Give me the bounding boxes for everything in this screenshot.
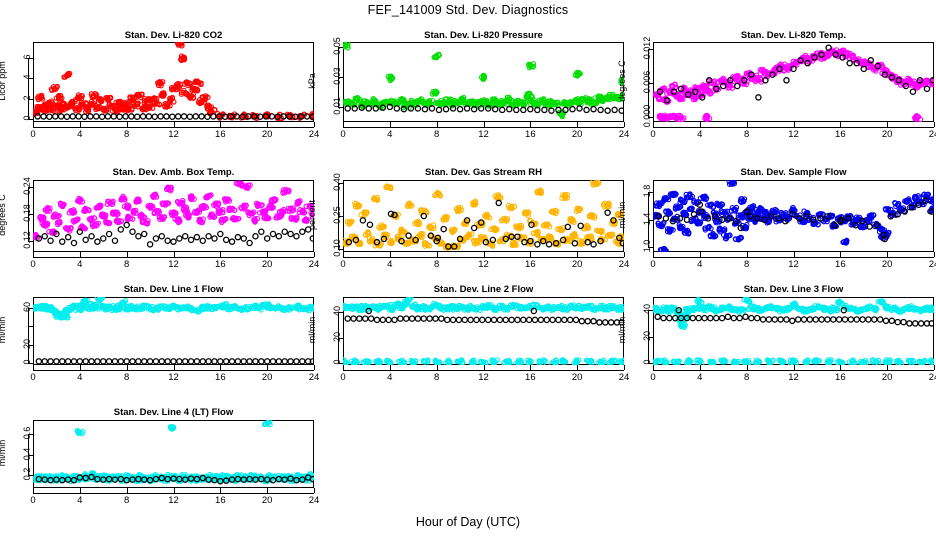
- x-axis-line: [33, 127, 314, 128]
- x-tick-label: 4: [370, 372, 410, 383]
- x-tick-label: 0: [633, 259, 673, 270]
- panel-title: Stan. Dev. Line 4 (LT) Flow: [0, 407, 354, 418]
- x-tick-label: 12: [464, 129, 504, 140]
- x-tick-label: 20: [247, 372, 287, 383]
- x-tick-label: 20: [247, 259, 287, 270]
- plot-clip: [33, 297, 314, 365]
- x-axis-line: [33, 493, 314, 494]
- data-points-layer: [33, 297, 314, 365]
- x-tick-mark: [934, 365, 935, 370]
- y-axis-line: [338, 47, 339, 107]
- y-axis-line: [648, 192, 649, 247]
- y-axis-label: Licor ppm: [0, 41, 7, 121]
- plot-clip: [653, 42, 934, 122]
- x-tick-label: 8: [417, 129, 457, 140]
- x-tick-label: 4: [680, 259, 720, 270]
- panel-title: Stan. Dev. Line 3 Flow: [613, 284, 936, 295]
- x-tick-label: 4: [680, 372, 720, 383]
- x-tick-mark: [314, 488, 315, 493]
- figure-title: FEF_141009 Std. Dev. Diagnostics: [0, 3, 936, 17]
- x-tick-mark: [624, 122, 625, 127]
- data-points-layer: [653, 297, 934, 365]
- x-tick-label: 12: [154, 259, 194, 270]
- panel-title: Stan. Dev. Gas Stream RH: [303, 167, 664, 178]
- y-axis-label: kPa: [307, 41, 317, 121]
- data-points-layer: [33, 420, 314, 488]
- x-tick-label: 8: [727, 372, 767, 383]
- x-tick-label: 4: [60, 129, 100, 140]
- x-tick-label: 0: [633, 129, 673, 140]
- y-axis-line: [338, 183, 339, 248]
- y-tick-label: 1.8: [642, 168, 652, 214]
- y-axis-label: degrees C: [0, 175, 7, 255]
- y-tick-label: 6: [22, 34, 32, 80]
- series-2: [36, 222, 314, 247]
- series-1: [653, 48, 934, 122]
- x-tick-label: 12: [464, 259, 504, 270]
- x-tick-label: 0: [13, 495, 53, 506]
- panel-title: Stan. Dev. Line 2 Flow: [303, 284, 664, 295]
- x-tick-label: 12: [154, 495, 194, 506]
- plot-clip: [343, 297, 624, 365]
- x-tick-label: 0: [13, 372, 53, 383]
- x-tick-label: 16: [820, 129, 860, 140]
- x-tick-mark: [934, 122, 935, 127]
- x-tick-label: 8: [107, 129, 147, 140]
- plot-clip: [653, 180, 934, 252]
- x-tick-label: 0: [13, 259, 53, 270]
- x-tick-label: 0: [633, 372, 673, 383]
- y-axis-label: ml/min: [0, 290, 7, 370]
- x-tick-label: 8: [107, 259, 147, 270]
- x-tick-label: 8: [417, 372, 457, 383]
- y-tick-label: 0.24: [22, 163, 32, 209]
- x-tick-label: 0: [323, 259, 363, 270]
- plot-clip: [343, 42, 624, 122]
- data-points-layer: [653, 180, 934, 252]
- x-tick-label: 16: [200, 372, 240, 383]
- data-points-layer: [33, 42, 314, 122]
- x-tick-label: 16: [200, 259, 240, 270]
- x-axis-line: [653, 257, 934, 258]
- x-tick-label: 20: [867, 259, 907, 270]
- data-points-layer: [343, 180, 624, 252]
- plot-clip: [653, 297, 934, 365]
- x-tick-label: 12: [774, 372, 814, 383]
- x-tick-mark: [314, 122, 315, 127]
- x-tick-label: 12: [464, 372, 504, 383]
- x-tick-label: 8: [727, 259, 767, 270]
- series-1: [33, 297, 314, 320]
- x-tick-label: 16: [510, 259, 550, 270]
- x-tick-label: 0: [323, 129, 363, 140]
- plot-clip: [343, 180, 624, 252]
- x-tick-label: 4: [60, 372, 100, 383]
- y-tick-label: 0.05: [332, 23, 342, 69]
- y-axis-line: [28, 58, 29, 119]
- x-tick-label: 12: [154, 129, 194, 140]
- y-tick-label: 0.6: [22, 410, 32, 456]
- series-2: [343, 358, 624, 365]
- y-axis-label: ml/min: [617, 175, 627, 255]
- y-axis-line: [648, 310, 649, 363]
- series-1: [343, 297, 624, 312]
- x-tick-label: 24: [914, 372, 936, 383]
- x-tick-label: 16: [510, 129, 550, 140]
- x-tick-label: 16: [820, 372, 860, 383]
- panel-title: Stan. Dev. Line 1 Flow: [0, 284, 354, 295]
- x-tick-label: 4: [370, 129, 410, 140]
- x-tick-label: 24: [914, 129, 936, 140]
- x-tick-label: 20: [867, 372, 907, 383]
- x-tick-label: 0: [323, 372, 363, 383]
- x-tick-label: 12: [154, 372, 194, 383]
- x-axis-line: [653, 127, 934, 128]
- x-tick-label: 4: [60, 495, 100, 506]
- panel-title: Stan. Dev. Li-820 Pressure: [303, 30, 664, 41]
- x-tick-label: 12: [774, 129, 814, 140]
- y-axis-label: ml/min: [307, 290, 317, 370]
- x-tick-label: 20: [247, 129, 287, 140]
- x-axis-line: [343, 370, 624, 371]
- series-2: [36, 359, 314, 364]
- y-tick-label: 40: [332, 288, 342, 334]
- y-tick-label: 0.40: [332, 159, 342, 205]
- x-tick-label: 24: [914, 259, 936, 270]
- data-points-layer: [653, 42, 934, 122]
- figure-xlabel: Hour of Day (UTC): [0, 515, 936, 529]
- plot-clip: [33, 42, 314, 122]
- x-axis-line: [343, 127, 624, 128]
- x-axis-line: [33, 370, 314, 371]
- x-tick-label: 20: [557, 372, 597, 383]
- x-tick-label: 8: [727, 129, 767, 140]
- y-axis-label: ml/min: [617, 290, 627, 370]
- panel-title: Stan. Dev. Li-820 Temp.: [613, 30, 936, 41]
- x-tick-label: 16: [200, 129, 240, 140]
- panel-title: Stan. Dev. Amb. Box Temp.: [0, 167, 354, 178]
- data-points-layer: [33, 180, 314, 252]
- x-tick-label: 16: [200, 495, 240, 506]
- series-2: [35, 114, 314, 120]
- x-tick-label: 4: [680, 129, 720, 140]
- x-tick-mark: [934, 252, 935, 257]
- series-2: [653, 358, 934, 365]
- y-tick-label: 60: [22, 284, 32, 330]
- y-axis-label: ml/min: [0, 413, 7, 493]
- x-tick-label: 20: [557, 259, 597, 270]
- x-tick-label: 24: [294, 495, 334, 506]
- x-tick-label: 8: [417, 259, 457, 270]
- data-points-layer: [343, 42, 624, 122]
- figure-root: FEF_141009 Std. Dev. Diagnostics Hour of…: [0, 0, 936, 540]
- x-axis-line: [653, 370, 934, 371]
- y-axis-line: [28, 187, 29, 241]
- y-axis-label: percent: [307, 175, 317, 255]
- y-tick-label: 40: [642, 286, 652, 332]
- series-1: [653, 297, 934, 329]
- y-axis-line: [28, 308, 29, 363]
- x-tick-label: 20: [557, 129, 597, 140]
- panel-title: Stan. Dev. Sample Flow: [613, 167, 936, 178]
- plot-clip: [33, 420, 314, 488]
- x-tick-label: 4: [370, 259, 410, 270]
- y-axis-label: degrees C: [617, 41, 627, 121]
- x-tick-label: 8: [107, 372, 147, 383]
- x-tick-label: 8: [107, 495, 147, 506]
- series-1: [343, 180, 624, 250]
- x-tick-label: 16: [820, 259, 860, 270]
- x-tick-label: 16: [510, 372, 550, 383]
- y-axis-line: [338, 312, 339, 363]
- panel-title: Stan. Dev. Li-820 CO2: [0, 30, 354, 41]
- x-tick-label: 20: [247, 495, 287, 506]
- plot-clip: [33, 180, 314, 252]
- x-tick-label: 4: [60, 259, 100, 270]
- x-tick-label: 12: [774, 259, 814, 270]
- data-points-layer: [343, 297, 624, 365]
- y-axis-line: [28, 434, 29, 476]
- y-tick-label: 0.012: [642, 25, 652, 71]
- x-axis-line: [343, 257, 624, 258]
- x-tick-label: 20: [867, 129, 907, 140]
- series-1: [33, 420, 314, 484]
- x-axis-line: [33, 257, 314, 258]
- y-axis-line: [648, 49, 649, 118]
- series-1: [33, 42, 314, 121]
- x-tick-label: 0: [13, 129, 53, 140]
